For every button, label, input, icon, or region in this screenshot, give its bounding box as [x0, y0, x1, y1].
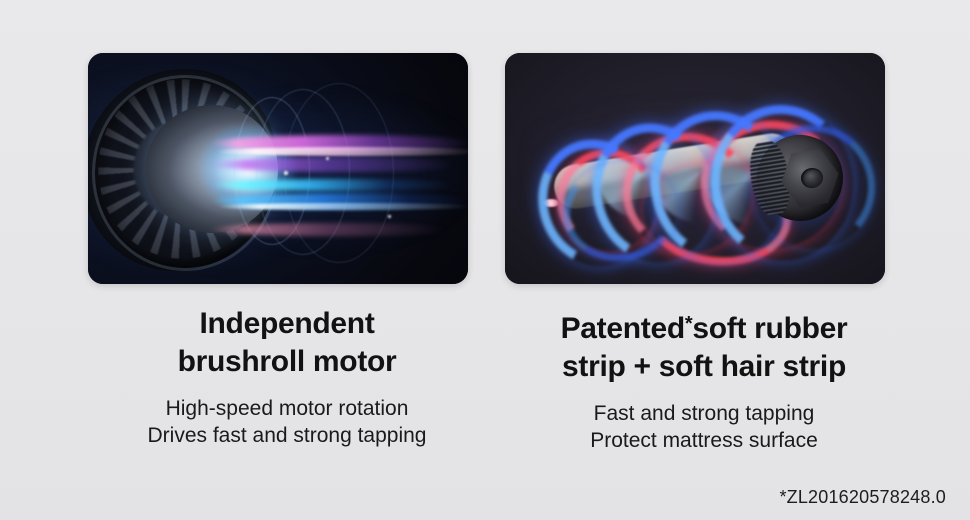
rubber-strip-text-block: Patented*soft rubber strip + soft hair s… — [505, 305, 903, 454]
feature-column-rubber-strip: Patented*soft rubber strip + soft hair s… — [505, 0, 903, 520]
brushroll-motor-subtitle: High-speed motor rotation Drives fast an… — [88, 395, 486, 449]
feature-column-brushroll-motor: Independent brushroll motor High-speed m… — [88, 0, 486, 520]
light-spark — [388, 215, 391, 218]
light-streak-violet — [210, 157, 468, 172]
light-spark — [326, 157, 329, 160]
brushroll-motor-text-block: Independent brushroll motor High-speed m… — [88, 305, 486, 449]
feature-comparison-graphic: Independent brushroll motor High-speed m… — [0, 0, 970, 520]
roller-scene-background — [505, 53, 885, 284]
rubber-strip-title-line-2: strip + soft hair strip — [562, 350, 846, 383]
motor-scene-background — [88, 53, 468, 284]
brushroll-strip-image-panel — [505, 53, 885, 284]
rubber-strip-title: Patented*soft rubber strip + soft hair s… — [505, 305, 903, 386]
brushroll-motor-title-line-1: Independent — [199, 307, 374, 340]
rubber-strip-title-part-b: soft rubber — [692, 312, 847, 345]
light-streak-cyan — [210, 179, 462, 191]
patent-number-footnote: *ZL201620578248.0 — [779, 487, 946, 508]
brushroll-motor-title-line-2: brushroll motor — [178, 345, 397, 378]
brushroll-motor-title: Independent brushroll motor — [88, 305, 486, 381]
rubber-strip-subtitle: Fast and strong tapping Protect mattress… — [505, 400, 903, 454]
light-streak-white-middle — [210, 203, 468, 210]
brushroll-motor-image-panel — [88, 53, 468, 284]
rubber-strip-title-part-a: Patented — [561, 312, 685, 345]
airflow-ring-outer — [284, 83, 394, 263]
light-streak-rose — [210, 223, 460, 236]
light-spark — [284, 171, 288, 175]
